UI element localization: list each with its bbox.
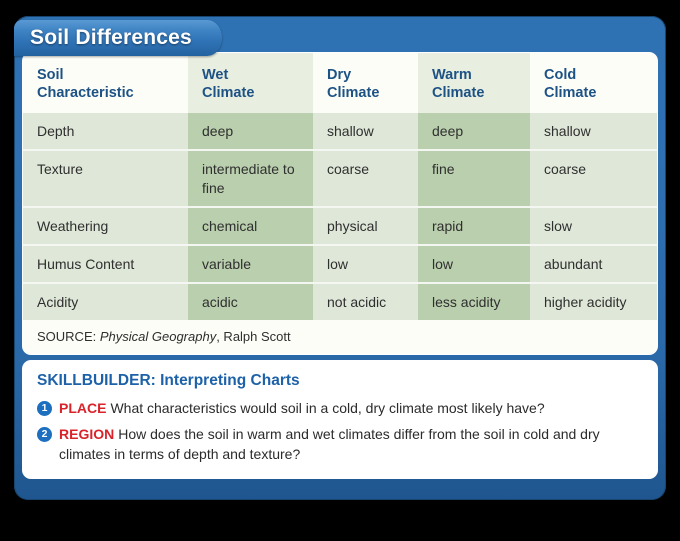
skillbuilder-question-1: 1 PLACEWhat characteristics would soil i…	[37, 399, 643, 418]
question-number-badge: 1	[37, 401, 52, 416]
column-header-line-1: Dry	[327, 67, 351, 83]
cell-wet: intermediate to fine	[188, 150, 313, 206]
cell-wet: acidic	[188, 283, 313, 320]
cell-wet: chemical	[188, 207, 313, 245]
column-header-line-2: Climate	[432, 85, 484, 101]
cell-cold: shallow	[530, 113, 658, 150]
cell-warm: low	[418, 245, 530, 283]
question-keyword: REGION	[59, 426, 114, 442]
source-author: , Ralph Scott	[216, 329, 290, 344]
cell-dry: not acidic	[313, 283, 418, 320]
column-header-line-2: Climate	[327, 85, 379, 101]
cell-characteristic: Weathering	[23, 207, 188, 245]
column-header-line-2: Climate	[202, 85, 254, 101]
cell-dry: low	[313, 245, 418, 283]
column-header-wet-climate: Wet Climate	[188, 53, 313, 113]
cell-wet: deep	[188, 113, 313, 150]
cell-warm: fine	[418, 150, 530, 206]
cell-warm: rapid	[418, 207, 530, 245]
table-row: Depth deep shallow deep shallow	[23, 113, 658, 150]
question-text: What characteristics would soil in a col…	[110, 400, 544, 416]
cell-wet: variable	[188, 245, 313, 283]
cell-warm: less acidity	[418, 283, 530, 320]
cell-cold: slow	[530, 207, 658, 245]
column-header-line-1: Wet	[202, 67, 228, 83]
soil-differences-table: Soil Characteristic Wet Climate Dry Clim…	[23, 53, 658, 320]
source-title: Physical Geography	[100, 329, 216, 344]
cell-characteristic: Texture	[23, 150, 188, 206]
cell-cold: abundant	[530, 245, 658, 283]
table-header-row: Soil Characteristic Wet Climate Dry Clim…	[23, 53, 658, 113]
title-tab-label: Soil Differences	[30, 26, 192, 50]
column-header-warm-climate: Warm Climate	[418, 53, 530, 113]
question-body: REGIONHow does the soil in warm and wet …	[59, 425, 643, 464]
column-header-line-1: Warm	[432, 67, 472, 83]
column-header-line-1: Soil	[37, 67, 64, 83]
table-row: Acidity acidic not acidic less acidity h…	[23, 283, 658, 320]
cell-warm: deep	[418, 113, 530, 150]
skillbuilder-title: SKILLBUILDER: Interpreting Charts	[37, 372, 643, 390]
question-number-badge: 2	[37, 427, 52, 442]
column-header-line-1: Cold	[544, 67, 576, 83]
skillbuilder-question-2: 2 REGIONHow does the soil in warm and we…	[37, 425, 643, 464]
question-text: How does the soil in warm and wet climat…	[59, 426, 600, 461]
question-body: PLACEWhat characteristics would soil in …	[59, 399, 545, 418]
cell-cold: higher acidity	[530, 283, 658, 320]
skillbuilder-card: SKILLBUILDER: Interpreting Charts 1 PLAC…	[22, 360, 658, 479]
cell-characteristic: Acidity	[23, 283, 188, 320]
column-header-dry-climate: Dry Climate	[313, 53, 418, 113]
question-keyword: PLACE	[59, 400, 106, 416]
source-line: SOURCE: Physical Geography, Ralph Scott	[23, 320, 657, 354]
column-header-soil-characteristic: Soil Characteristic	[23, 53, 188, 113]
title-tab: Soil Differences	[14, 20, 222, 56]
cell-dry: physical	[313, 207, 418, 245]
cell-characteristic: Depth	[23, 113, 188, 150]
column-header-cold-climate: Cold Climate	[530, 53, 658, 113]
chart-card: Soil Characteristic Wet Climate Dry Clim…	[22, 52, 658, 355]
cell-cold: coarse	[530, 150, 658, 206]
column-header-line-2: Climate	[544, 85, 596, 101]
source-prefix: SOURCE:	[37, 329, 96, 344]
cell-dry: coarse	[313, 150, 418, 206]
table-row: Texture intermediate to fine coarse fine…	[23, 150, 658, 206]
column-header-line-2: Characteristic	[37, 85, 134, 101]
cell-characteristic: Humus Content	[23, 245, 188, 283]
table-row: Humus Content variable low low abundant	[23, 245, 658, 283]
table-row: Weathering chemical physical rapid slow	[23, 207, 658, 245]
cell-dry: shallow	[313, 113, 418, 150]
